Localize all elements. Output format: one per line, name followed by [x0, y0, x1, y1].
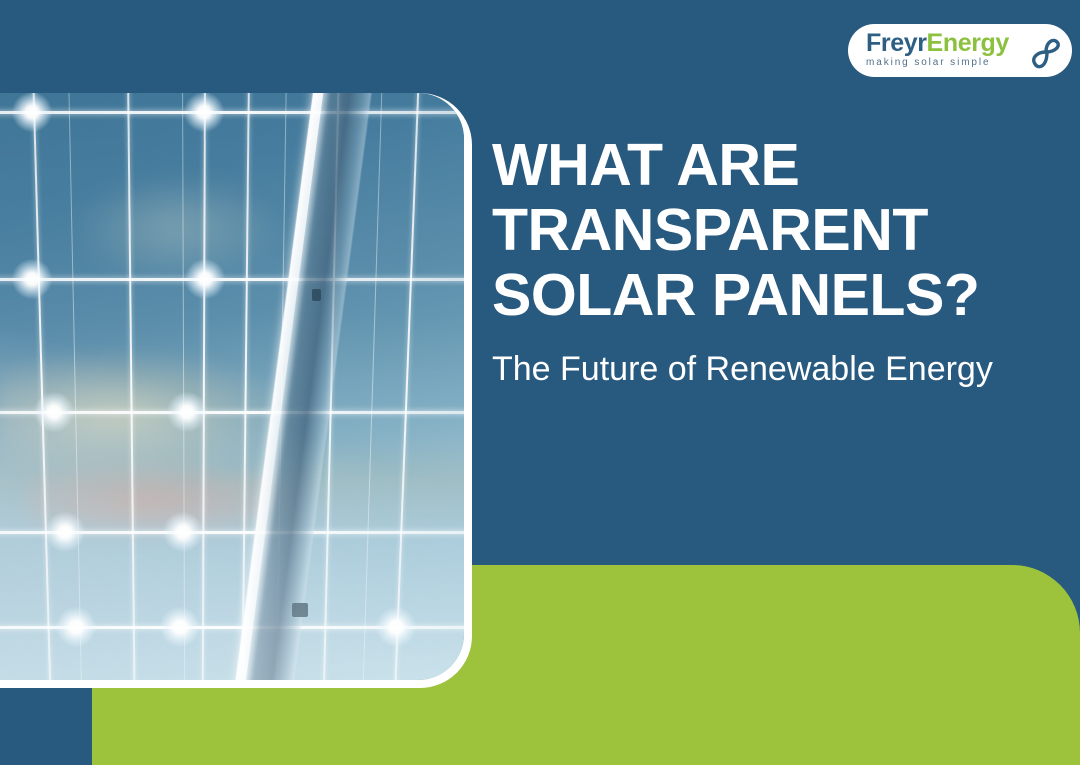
panel-finger-lines [0, 93, 464, 680]
panel-bolt-lower [292, 603, 308, 617]
logo-word-freyr: Freyr [866, 29, 927, 57]
title-line-3: SOLAR PANELS? [492, 263, 1062, 328]
hero-image [0, 93, 464, 680]
title-line-1: WHAT ARE [492, 133, 1062, 198]
page-title: WHAT ARE TRANSPARENT SOLAR PANELS? [492, 133, 1062, 328]
page-subtitle: The Future of Renewable Energy [492, 348, 1062, 390]
panel-bolt-upper [312, 289, 321, 301]
title-line-2: TRANSPARENT [492, 198, 1062, 263]
hero-image-content [0, 93, 464, 680]
hero-copy: WHAT ARE TRANSPARENT SOLAR PANELS? The F… [492, 133, 1062, 390]
brand-logo[interactable]: FreyrEnergy making solar simple [848, 24, 1072, 77]
logo-word-energy: Energy [927, 29, 1009, 57]
hero-image-frame [0, 93, 472, 688]
infinity-loop-icon [1026, 31, 1066, 73]
